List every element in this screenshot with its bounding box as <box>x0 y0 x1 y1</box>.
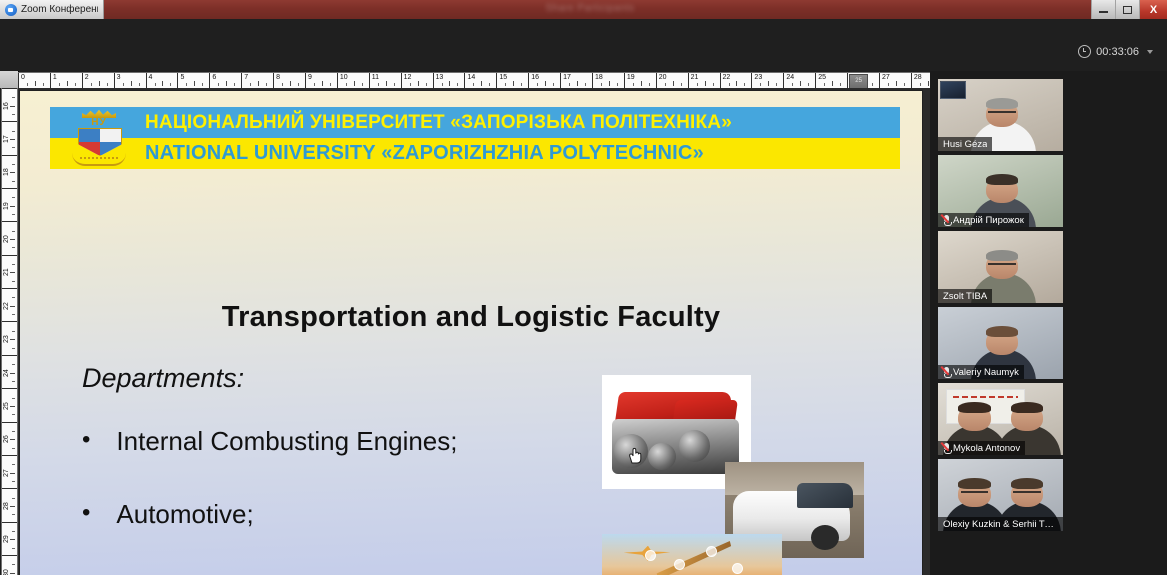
ruler-subtick <box>489 83 490 86</box>
glasses-icon <box>961 491 989 496</box>
ruler-tick-label: 30 <box>3 569 10 575</box>
ruler-subtick <box>12 531 15 532</box>
ruler-subtick <box>673 81 674 86</box>
ruler-subtick <box>513 81 514 86</box>
banner-ukrainian-text: НАЦІОНАЛЬНИЙ УНІВЕРСИТЕТ «ЗАПОРІЗЬКА ПОЛ… <box>145 107 900 138</box>
ruler-subtick <box>139 83 140 86</box>
chevron-down-icon[interactable] <box>1147 50 1153 54</box>
ruler-subtick <box>155 83 156 86</box>
participant-name-bar: Valeriy Naumyk <box>938 365 1024 379</box>
bullet-marker: • <box>82 500 90 526</box>
ruler-subtick <box>258 81 259 86</box>
ruler-subtick <box>832 81 833 86</box>
ruler-subtick <box>896 81 897 86</box>
restore-icon <box>1123 6 1132 14</box>
participant-name: Андрій Пирожок <box>953 215 1024 226</box>
ruler-subtick <box>12 197 15 198</box>
ruler-tick: 5 <box>177 73 209 88</box>
crest-initials: НУ <box>68 117 130 128</box>
clock-icon <box>1078 45 1091 58</box>
ruler-tick: 30 <box>2 555 17 575</box>
ruler-tick: 18 <box>2 155 17 188</box>
ruler-subtick <box>633 83 634 86</box>
ruler-subtick <box>12 97 15 98</box>
glasses-icon <box>988 263 1016 268</box>
ruler-tick: 22 <box>720 73 752 88</box>
ruler-subtick <box>10 373 15 374</box>
glasses-icon <box>1013 491 1041 496</box>
meeting-toolbar: 00:33:06 <box>0 19 1167 71</box>
ruler-tick: 3 <box>114 73 146 88</box>
ruler-subtick <box>226 81 227 86</box>
ruler-subtick <box>12 381 15 382</box>
ruler-subtick <box>920 83 921 86</box>
ruler-tick-label: 28 <box>3 502 10 510</box>
ruler-subtick <box>12 164 15 165</box>
ruler-tick: 1 <box>50 73 82 88</box>
ruler-subtick <box>577 81 578 86</box>
ruler-subtick <box>649 83 650 86</box>
hand-cursor <box>627 446 643 464</box>
blurred-toolbar-text: Share Participants <box>470 3 710 16</box>
meeting-timer-value: 00:33:06 <box>1096 46 1139 58</box>
ruler-subtick <box>290 81 291 86</box>
participant-hair <box>986 250 1019 261</box>
ruler-subtick <box>394 83 395 86</box>
ruler-subtick <box>537 83 538 86</box>
horizontal-ruler[interactable]: 0123456789101112131415161718192021222324… <box>0 71 930 88</box>
ruler-subtick <box>665 83 666 86</box>
department-name: Internal Combusting Engines; <box>116 427 457 455</box>
university-banner: НАЦІОНАЛЬНИЙ УНІВЕРСИТЕТ «ЗАПОРІЗЬКА ПОЛ… <box>50 107 900 169</box>
window-tab[interactable]: Zoom Конференция <box>0 0 104 19</box>
ruler-subtick <box>888 83 889 86</box>
ruler-subtick <box>99 81 100 86</box>
crest-ribbon <box>72 153 126 166</box>
ruler-subtick <box>314 83 315 86</box>
participant-hair <box>1011 402 1044 413</box>
ruler-subtick <box>298 83 299 86</box>
ruler-tick: 16 <box>2 88 17 121</box>
participant-thumbnail[interactable]: Olexiy Kuzkin & Serhii Tur... <box>938 459 1063 531</box>
ruler-tick-label: 19 <box>3 202 10 210</box>
ruler-subtick <box>713 83 714 86</box>
ruler-tick: 15 <box>496 73 528 88</box>
ruler-tick: 24 <box>783 73 815 88</box>
vertical-ruler[interactable]: 161718192021222324252627282930 <box>0 88 18 575</box>
ruler-subtick <box>928 81 929 86</box>
ruler-tick-label: 22 <box>3 302 10 310</box>
ruler-tick: 20 <box>656 73 688 88</box>
ruler-tick: 2 <box>82 73 114 88</box>
ruler-subtick <box>386 81 387 86</box>
ruler-tick: 7 <box>241 73 273 88</box>
ruler-subtick <box>12 131 15 132</box>
window-tab-label: Zoom Конференция <box>21 4 98 15</box>
ruler-subtick <box>609 81 610 86</box>
ruler-corner <box>0 71 19 88</box>
participant-hair <box>958 478 991 489</box>
microphone-muted-icon <box>943 443 950 454</box>
ruler-tick-label: 23 <box>3 335 10 343</box>
participant-name: Olexiy Kuzkin & Serhii Tur... <box>943 519 1058 530</box>
ruler-subtick <box>545 81 546 86</box>
ruler-tick: 18 <box>592 73 624 88</box>
close-button[interactable]: X <box>1139 0 1167 19</box>
ruler-subtick <box>481 81 482 86</box>
ruler-subtick <box>904 83 905 86</box>
department-bullet: •Automotive; <box>82 500 622 528</box>
ruler-subtick <box>59 83 60 86</box>
glasses-icon <box>988 111 1016 116</box>
ruler-subtick <box>840 83 841 86</box>
minimize-icon <box>1099 11 1108 13</box>
ruler-subtick <box>10 339 15 340</box>
ruler-tick: 19 <box>624 73 656 88</box>
ruler-subtick <box>12 481 15 482</box>
ruler-subtick <box>91 83 92 86</box>
ruler-subtick <box>12 431 15 432</box>
participant-thumbnail[interactable]: Husi Géza <box>938 79 1063 151</box>
participant-name-bar: Zsolt TIBA <box>938 289 992 303</box>
ruler-subtick <box>10 106 15 107</box>
car-windshield <box>797 483 853 508</box>
ruler-tick-label: 16 <box>3 102 10 110</box>
department-bullet: •Internal Combusting Engines; <box>82 427 622 455</box>
ruler-subtick <box>27 83 28 86</box>
department-name: Automotive; <box>116 500 253 528</box>
ruler-tick: 17 <box>560 73 592 88</box>
ruler-subtick <box>705 81 706 86</box>
ruler-subtick <box>12 364 15 365</box>
participant-name-bar: Mykola Antonov <box>938 441 1025 455</box>
collage-sky <box>602 534 782 575</box>
ruler-subtick <box>12 448 15 449</box>
ruler-subtick <box>10 473 15 474</box>
ruler-subtick <box>162 81 163 86</box>
ruler-subtick <box>35 81 36 86</box>
picture-in-picture-preview[interactable] <box>940 81 966 99</box>
ruler-subtick <box>12 214 15 215</box>
ruler-subtick <box>362 83 363 86</box>
indent-marker[interactable]: 25 <box>849 74 868 88</box>
ruler-subtick <box>449 81 450 86</box>
departments-list: •Internal Combusting Engines;•Automotive… <box>82 427 622 575</box>
participant-thumbnail[interactable]: Zsolt TIBA <box>938 231 1063 303</box>
ruler-subtick <box>67 81 68 86</box>
ruler-subtick <box>202 83 203 86</box>
participant-hair <box>986 174 1019 185</box>
ruler-subtick <box>12 514 15 515</box>
ruler-tick: 22 <box>2 288 17 321</box>
ruler-tick-label: 21 <box>3 269 10 277</box>
ruler-tick: 27 <box>879 73 911 88</box>
participant-name-bar: Olexiy Kuzkin & Serhii Tur... <box>938 517 1063 531</box>
ruler-subtick <box>10 439 15 440</box>
ruler-subtick <box>457 83 458 86</box>
ruler-tick: 23 <box>2 321 17 354</box>
ruler-subtick <box>10 406 15 407</box>
ruler-subtick <box>12 114 15 115</box>
ruler-subtick <box>131 81 132 86</box>
ruler-tick: 26 <box>2 422 17 455</box>
ruler-tick: 8 <box>273 73 305 88</box>
shared-screen-area: 0123456789101112131415161718192021222324… <box>0 71 930 575</box>
participant-thumbnail[interactable]: Mykola Antonov <box>938 383 1063 455</box>
ruler-subtick <box>736 81 737 86</box>
ruler-subtick <box>250 83 251 86</box>
participant-name-bar: Husi Géza <box>938 137 992 151</box>
microphone-muted-icon <box>943 215 950 226</box>
ruler-subtick <box>10 573 15 574</box>
ruler-subtick <box>824 83 825 86</box>
ruler-subtick <box>12 264 15 265</box>
ruler-subtick <box>12 231 15 232</box>
ruler-tick: 28 <box>911 73 930 88</box>
shield-quarter <box>79 129 100 142</box>
ruler-subtick <box>12 147 15 148</box>
ruler-subtick <box>218 83 219 86</box>
ruler-subtick <box>744 83 745 86</box>
ruler-subtick <box>10 139 15 140</box>
ruler-subtick <box>266 83 267 86</box>
ruler-tick-label: 18 <box>3 169 10 177</box>
ruler-subtick <box>330 83 331 86</box>
engine-pulley <box>679 430 710 462</box>
university-crest-icon: НУ <box>68 103 130 173</box>
ruler-subtick <box>418 81 419 86</box>
ruler-subtick <box>776 83 777 86</box>
ruler-subtick <box>234 83 235 86</box>
zoom-meeting-window: Zoom Конференция Share Participants X 00… <box>0 0 1167 575</box>
participant-filmstrip[interactable]: Husi GézaАндрій ПирожокZsolt TIBAValeriy… <box>930 71 1167 575</box>
ruler-tick: 9 <box>305 73 337 88</box>
ruler-subtick <box>10 239 15 240</box>
network-node-icon <box>706 546 717 557</box>
ruler-tick: 19 <box>2 188 17 221</box>
microphone-muted-icon <box>943 367 950 378</box>
ruler-tick: 20 <box>2 221 17 254</box>
horizontal-ruler-track: 0123456789101112131415161718192021222324… <box>18 72 930 88</box>
participant-hair <box>986 98 1019 109</box>
ruler-tick-label: 20 <box>3 235 10 243</box>
ruler-subtick <box>12 297 15 298</box>
ruler-subtick <box>10 206 15 207</box>
ruler-subtick <box>12 414 15 415</box>
ruler-subtick <box>12 564 15 565</box>
ruler-subtick <box>426 83 427 86</box>
ruler-tick: 27 <box>2 455 17 488</box>
ruler-tick: 28 <box>2 488 17 521</box>
ruler-tick: 24 <box>2 355 17 388</box>
shield-icon <box>78 128 122 156</box>
departments-label: Departments: <box>82 363 244 394</box>
ruler-subtick <box>800 81 801 86</box>
ruler-subtick <box>186 83 187 86</box>
shield-quarter <box>100 129 121 142</box>
ruler-subtick <box>12 281 15 282</box>
ruler-tick: 0 <box>18 73 50 88</box>
ruler-subtick <box>585 83 586 86</box>
minimize-button[interactable] <box>1091 0 1115 19</box>
ruler-subtick <box>505 83 506 86</box>
network-node-icon <box>645 550 656 561</box>
ruler-subtick <box>123 83 124 86</box>
ruler-subtick <box>282 83 283 86</box>
network-node-icon <box>732 563 743 574</box>
logistics-collage[interactable] <box>602 534 782 575</box>
ruler-subtick <box>729 83 730 86</box>
ruler-tick: 6 <box>209 73 241 88</box>
window-controls: X <box>1091 0 1167 19</box>
participant-name: Valeriy Naumyk <box>953 367 1019 378</box>
participant-hair <box>986 326 1019 337</box>
ruler-tick-label: 26 <box>3 435 10 443</box>
ruler-subtick <box>12 331 15 332</box>
ruler-subtick <box>107 83 108 86</box>
ruler-subtick <box>354 81 355 86</box>
ruler-subtick <box>601 83 602 86</box>
ruler-subtick <box>808 83 809 86</box>
ruler-subtick <box>569 83 570 86</box>
participant-name: Husi Géza <box>943 139 987 150</box>
ruler-tick: 21 <box>2 255 17 288</box>
ruler-subtick <box>697 83 698 86</box>
ruler-subtick <box>12 398 15 399</box>
ruler-subtick <box>410 83 411 86</box>
ruler-subtick <box>75 83 76 86</box>
participant-thumbnail[interactable]: Андрій Пирожок <box>938 155 1063 227</box>
ruler-subtick <box>43 83 44 86</box>
participant-thumbnail[interactable]: Valeriy Naumyk <box>938 307 1063 379</box>
ruler-tick: 21 <box>688 73 720 88</box>
ruler-tick-label: 17 <box>3 135 10 143</box>
ruler-subtick <box>170 83 171 86</box>
ruler-tick: 14 <box>464 73 496 88</box>
ruler-subtick <box>12 548 15 549</box>
ruler-subtick <box>617 83 618 86</box>
participant-name: Zsolt TIBA <box>943 291 987 302</box>
ruler-tick-label: 29 <box>3 536 10 544</box>
maximize-button[interactable] <box>1115 0 1139 19</box>
ruler-tick: 25 <box>2 388 17 421</box>
ruler-subtick <box>872 83 873 86</box>
ruler-subtick <box>12 247 15 248</box>
ruler-tick: 25 <box>815 73 847 88</box>
ruler-tick-label: 25 <box>3 402 10 410</box>
ruler-tick: 11 <box>369 73 401 88</box>
ruler-tick: 13 <box>433 73 465 88</box>
ruler-subtick <box>12 348 15 349</box>
ruler-subtick <box>521 83 522 86</box>
ruler-tick: 16 <box>528 73 560 88</box>
ruler-subtick <box>12 464 15 465</box>
participant-hair <box>1011 478 1044 489</box>
ruler-subtick <box>681 83 682 86</box>
ruler-subtick <box>10 506 15 507</box>
zoom-app-icon <box>5 4 17 16</box>
window-title-bar: Zoom Конференция Share Participants X <box>0 0 1167 19</box>
ruler-subtick <box>10 172 15 173</box>
ruler-subtick <box>792 83 793 86</box>
ruler-tick: 12 <box>401 73 433 88</box>
ruler-subtick <box>194 81 195 86</box>
banner-english-text: NATIONAL UNIVERSITY «ZAPORIZHZHIA POLYTE… <box>145 138 900 169</box>
ruler-subtick <box>553 83 554 86</box>
ruler-tick-label: 27 <box>3 469 10 477</box>
ruler-subtick <box>10 272 15 273</box>
ruler-subtick <box>442 83 443 86</box>
ruler-tick: 17 <box>2 121 17 154</box>
presentation-slide[interactable]: НАЦІОНАЛЬНИЙ УНІВЕРСИТЕТ «ЗАПОРІЗЬКА ПОЛ… <box>20 91 922 575</box>
bullet-marker: • <box>82 427 90 453</box>
ruler-subtick <box>346 83 347 86</box>
meeting-timer[interactable]: 00:33:06 <box>1078 45 1153 58</box>
ruler-subtick <box>12 314 15 315</box>
ruler-subtick <box>10 539 15 540</box>
ruler-tick: 4 <box>146 73 178 88</box>
participant-hair <box>958 402 991 413</box>
participant-name-bar: Андрій Пирожок <box>938 213 1029 227</box>
ruler-subtick <box>473 83 474 86</box>
ruler-subtick <box>760 83 761 86</box>
ruler-subtick <box>641 81 642 86</box>
ruler-subtick <box>378 83 379 86</box>
ruler-tick: 29 <box>2 522 17 555</box>
ruler-tick-label: 24 <box>3 369 10 377</box>
ruler-subtick <box>10 306 15 307</box>
slide-title: Transportation and Logistic Faculty <box>20 301 922 334</box>
ruler-subtick <box>12 498 15 499</box>
ruler-tick: 10 <box>337 73 369 88</box>
ruler-subtick <box>768 81 769 86</box>
vertical-ruler-track: 161718192021222324252627282930 <box>1 88 18 575</box>
participant-name: Mykola Antonov <box>953 443 1020 454</box>
ruler-subtick <box>322 81 323 86</box>
ruler-tick: 23 <box>751 73 783 88</box>
ruler-subtick <box>12 181 15 182</box>
